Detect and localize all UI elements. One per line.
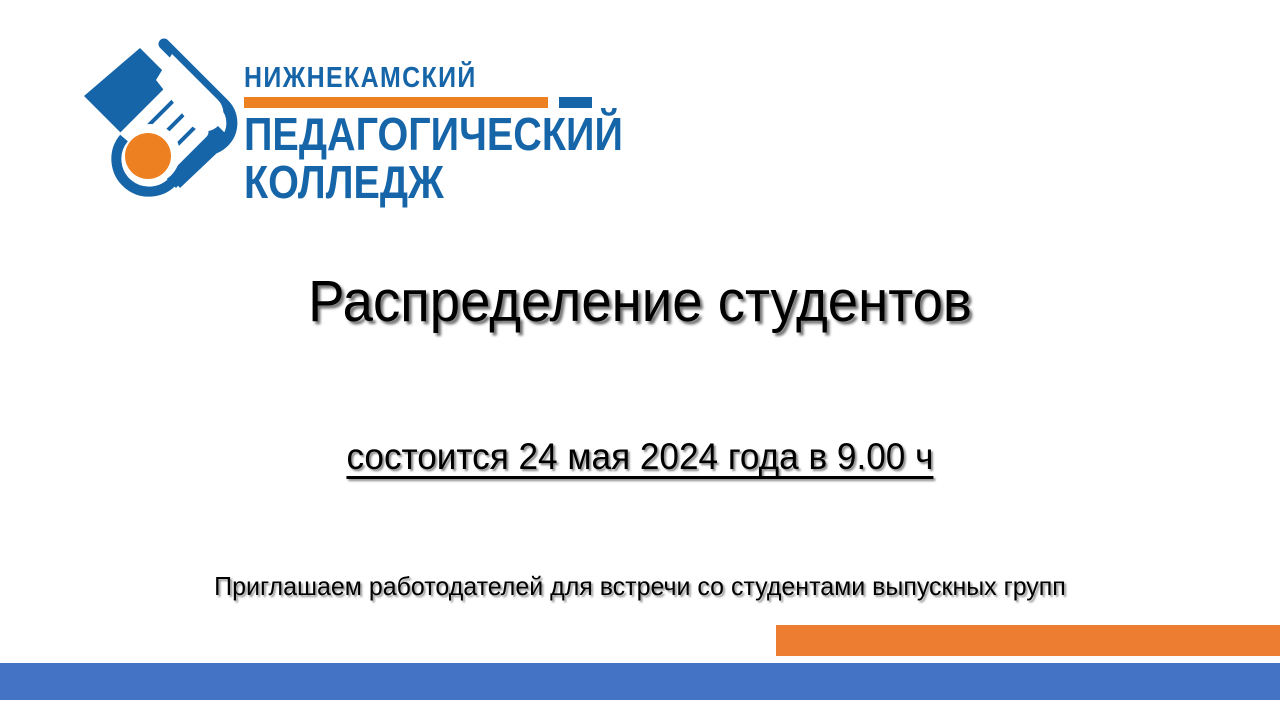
decorative-bar-orange [776, 625, 1280, 656]
decorative-bar-blue [0, 663, 1280, 700]
slide-subtitle: состоится 24 мая 2024 года в 9.00 ч [0, 436, 1280, 478]
book-hand-emblem-icon [68, 26, 248, 206]
wordmark-rule-orange [244, 97, 548, 108]
wordmark-rule-blue [559, 97, 592, 108]
wordmark-divider-rule [244, 97, 592, 108]
wordmark-line-nizhnekamskiy: НИЖНЕКАМСКИЙ [244, 64, 545, 93]
wordmark-line-kolledzh: КОЛЛЕДЖ [244, 159, 545, 205]
wordmark-line-pedagogicheskiy: ПЕДАГОГИЧЕСКИЙ [244, 111, 545, 157]
presentation-slide: НИЖНЕКАМСКИЙ ПЕДАГОГИЧЕСКИЙ КОЛЛЕДЖ Расп… [0, 0, 1280, 720]
college-logo: НИЖНЕКАМСКИЙ ПЕДАГОГИЧЕСКИЙ КОЛЛЕДЖ [68, 26, 598, 206]
slide-invitation-note: Приглашаем работодателей для встречи со … [26, 571, 1255, 602]
college-wordmark: НИЖНЕКАМСКИЙ ПЕДАГОГИЧЕСКИЙ КОЛЛЕДЖ [244, 64, 594, 205]
slide-subtitle-text: состоится 24 мая 2024 года в 9.00 ч [347, 436, 934, 478]
slide-title: Распределение студентов [38, 268, 1241, 335]
